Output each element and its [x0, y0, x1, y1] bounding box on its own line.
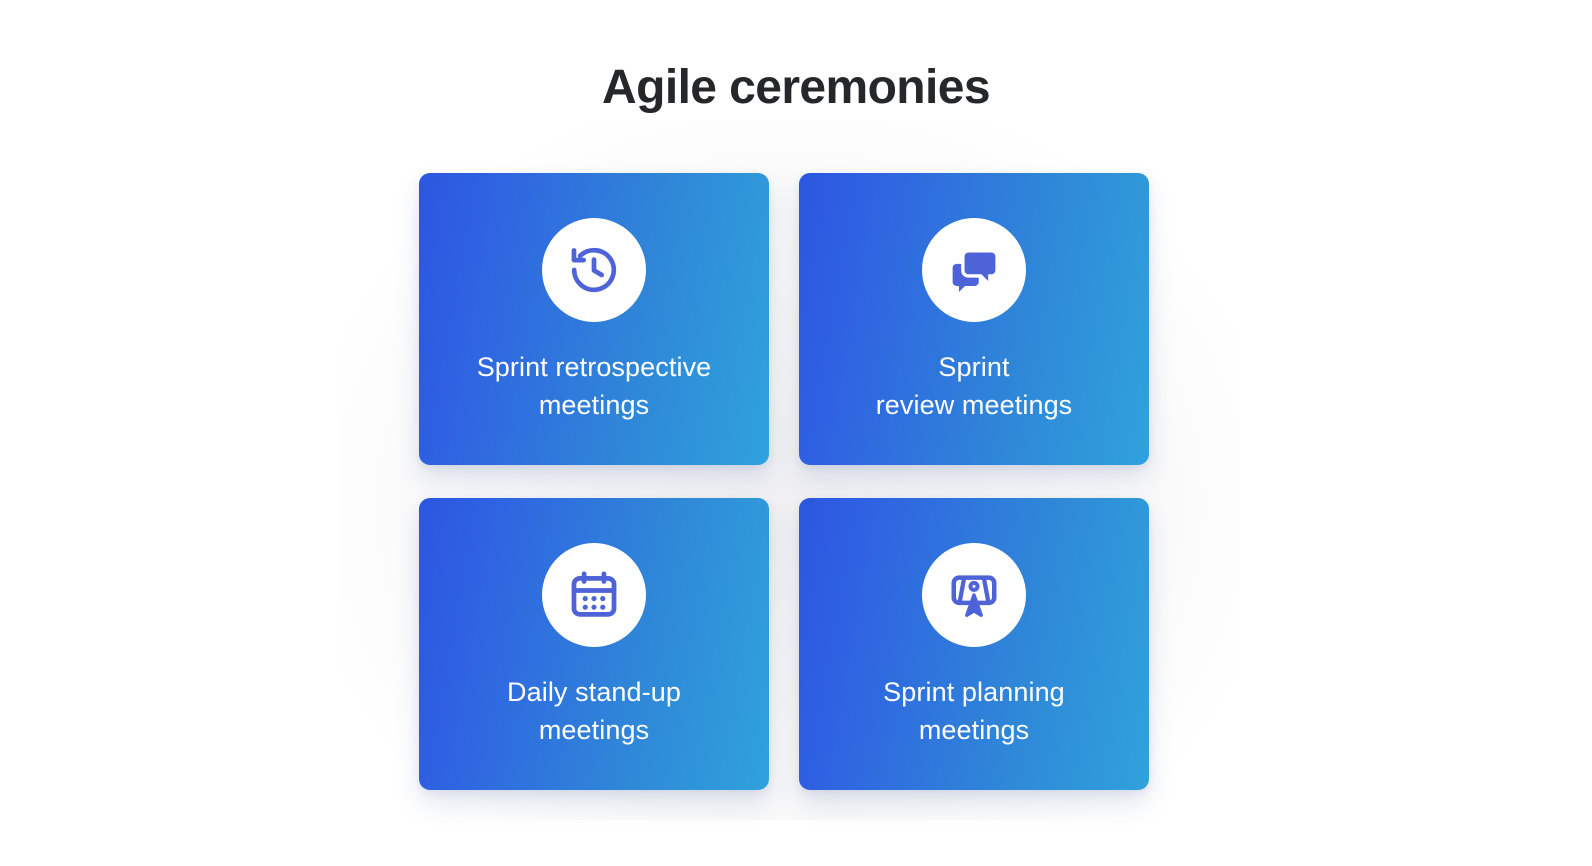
ceremony-card-grid: Sprint retrospective meetings Sprint rev… [419, 173, 1149, 790]
page-root: Agile ceremonies Sprint retrospective me… [0, 0, 1592, 866]
card-sprint-planning[interactable]: Sprint planning meetings [799, 498, 1149, 790]
calendar-icon [567, 568, 621, 622]
card-label: Daily stand-up meetings [444, 673, 744, 749]
page-title: Agile ceremonies [0, 62, 1592, 115]
card-daily-standup[interactable]: Daily stand-up meetings [419, 498, 769, 790]
card-sprint-retrospective[interactable]: Sprint retrospective meetings [419, 173, 769, 465]
card-label: Sprint planning meetings [824, 673, 1124, 749]
icon-badge [542, 218, 646, 322]
icon-badge [922, 218, 1026, 322]
presentation-board-icon [947, 568, 1001, 622]
history-clock-icon [567, 243, 621, 297]
card-label: Sprint retrospective meetings [444, 348, 744, 424]
card-sprint-review[interactable]: Sprint review meetings [799, 173, 1149, 465]
icon-badge [922, 543, 1026, 647]
icon-badge [542, 543, 646, 647]
card-label: Sprint review meetings [824, 348, 1124, 424]
chat-bubbles-icon [947, 243, 1001, 297]
